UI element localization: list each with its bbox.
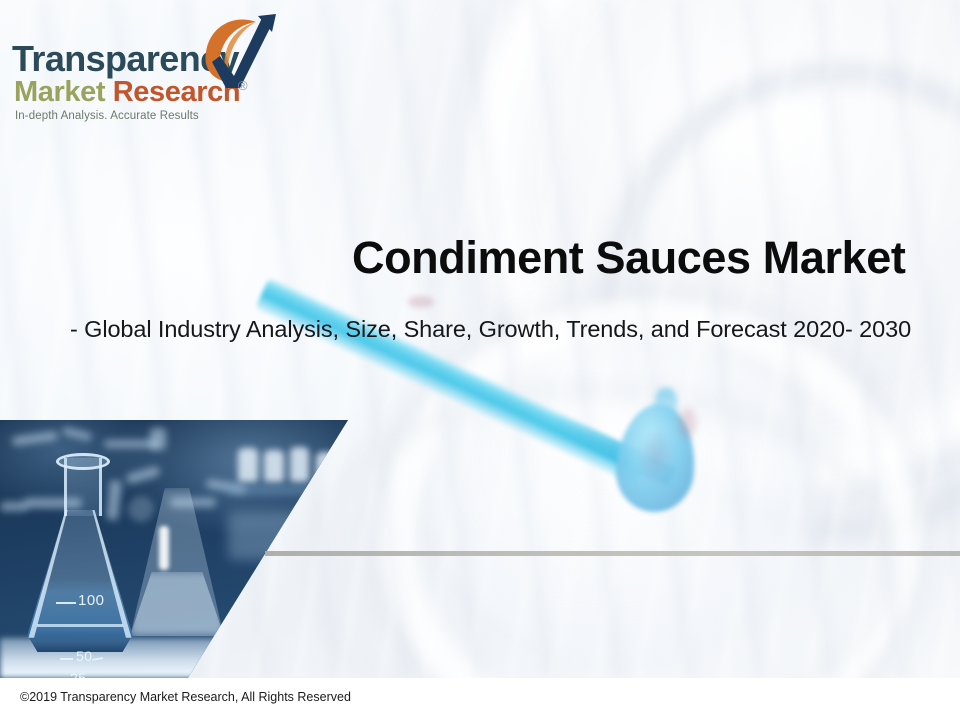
logo-tagline: In-depth Analysis. Accurate Results [15, 110, 199, 122]
color-fleck-secondary [678, 408, 696, 438]
transparency-market-research-logo[interactable]: Transparency Market Research In-depth An… [10, 18, 272, 124]
presentation-slide: 100 50 25 Transparency Market Research I… [0, 0, 960, 720]
flask-lip [56, 453, 110, 470]
droplet-core [638, 432, 674, 488]
flask-marking-25: 25 [70, 670, 87, 678]
test-tube [238, 448, 258, 482]
page-title: Condiment Sauces Market [352, 232, 905, 284]
color-fleck [408, 296, 434, 308]
gray-horizontal-rule [265, 551, 960, 556]
flask-body [24, 510, 136, 652]
logo-word-market: Market [14, 76, 105, 108]
background-flask-highlight [159, 526, 169, 570]
flask-marking-50: 50 [76, 648, 93, 664]
flask-marking-100: 100 [78, 592, 105, 609]
chalk-mark [150, 428, 166, 450]
test-tube [264, 450, 284, 482]
flask-liquid-level [37, 624, 123, 627]
flask-graduation-tick [56, 602, 76, 604]
test-tube [290, 447, 309, 482]
page-subtitle: - Global Industry Analysis, Size, Share,… [70, 316, 911, 343]
foreground-erlenmeyer-flask: 100 50 25 [24, 458, 136, 652]
copyright-text: ©2019 Transparency Market Research, All … [20, 690, 351, 704]
flask-graduation-tick [60, 658, 73, 660]
registered-trademark-icon: ® [238, 78, 248, 93]
